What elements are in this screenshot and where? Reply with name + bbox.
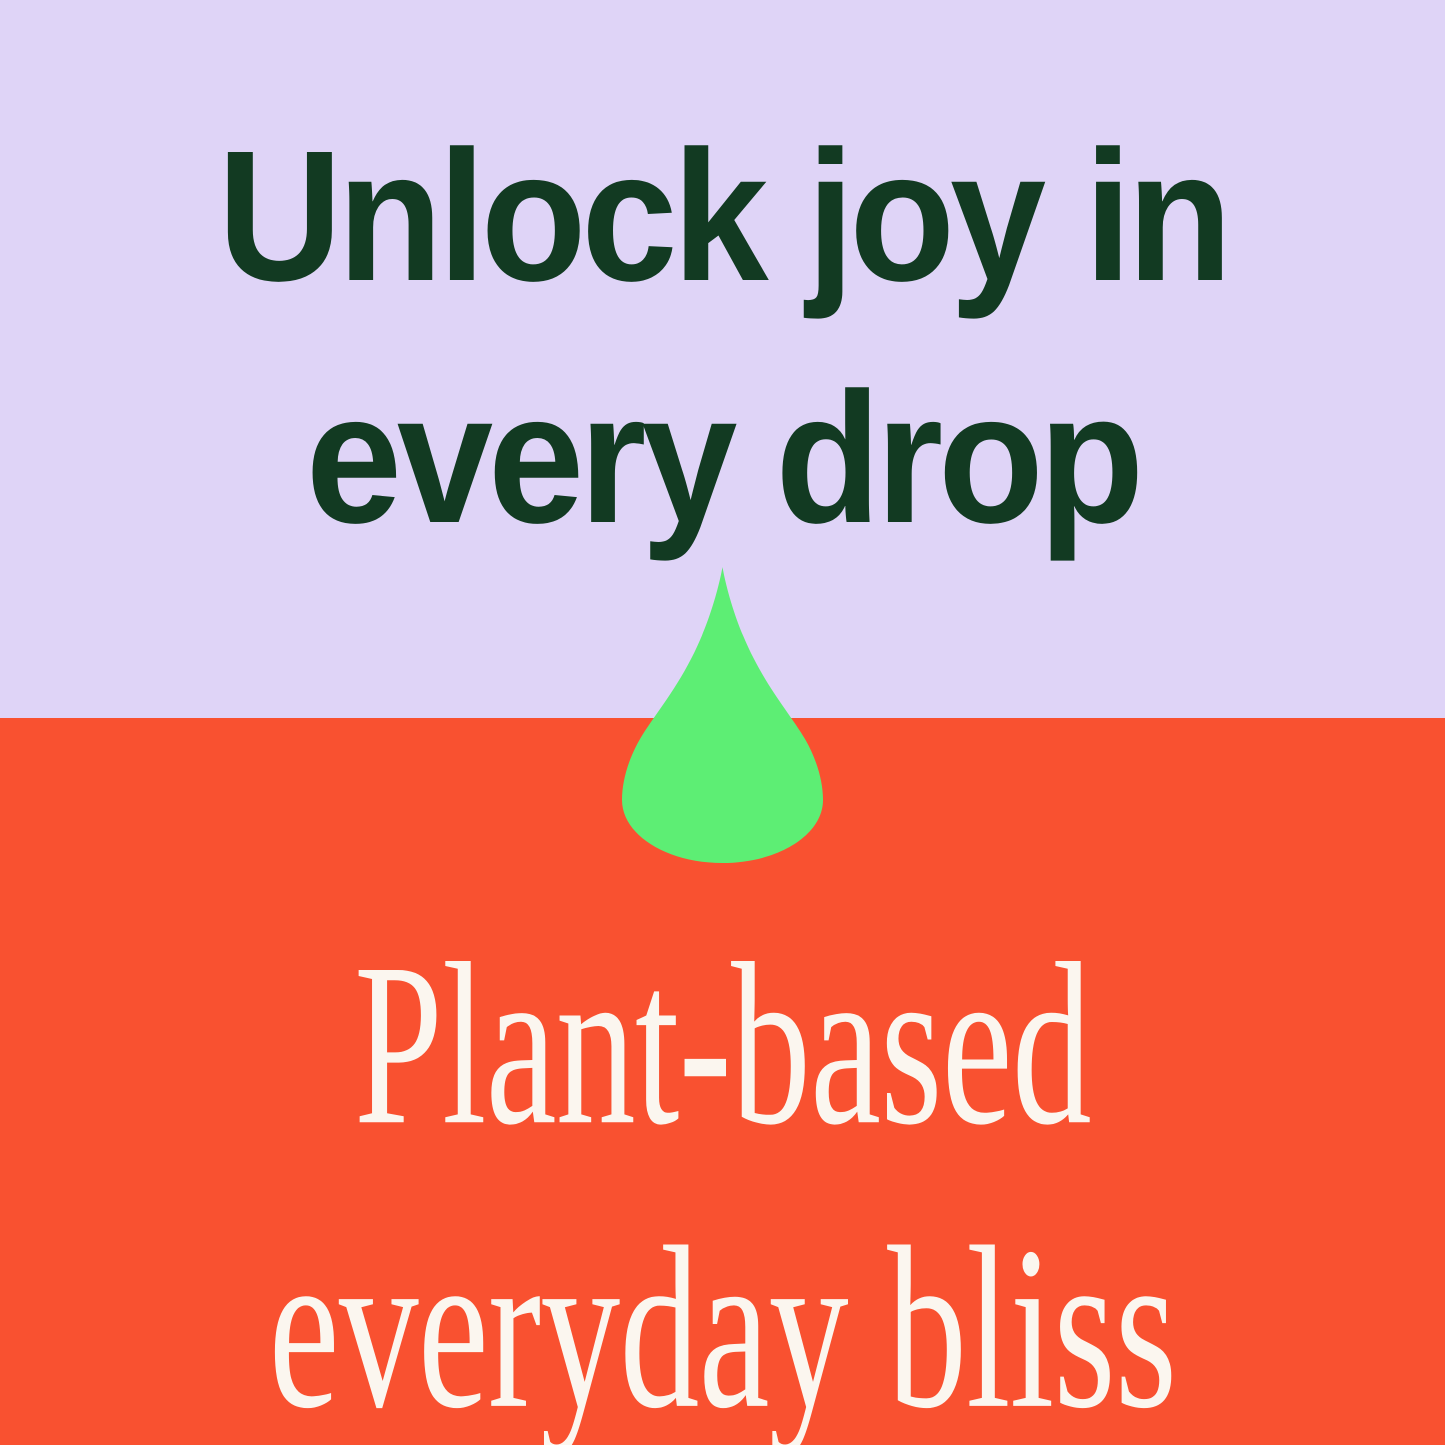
subline-line-2: everyday bliss [217,1187,1229,1445]
subline: Plant-based everyday bliss [217,903,1229,1445]
water-drop-shape [622,567,823,863]
promo-poster: Unlock joy in every drop Plant-based eve… [0,0,1445,1445]
water-drop-icon [622,567,823,863]
headline: Unlock joy in every drop [51,96,1395,580]
headline-line-2: every drop [51,338,1395,580]
subline-line-1: Plant-based [217,903,1229,1187]
headline-line-1: Unlock joy in [51,96,1395,338]
